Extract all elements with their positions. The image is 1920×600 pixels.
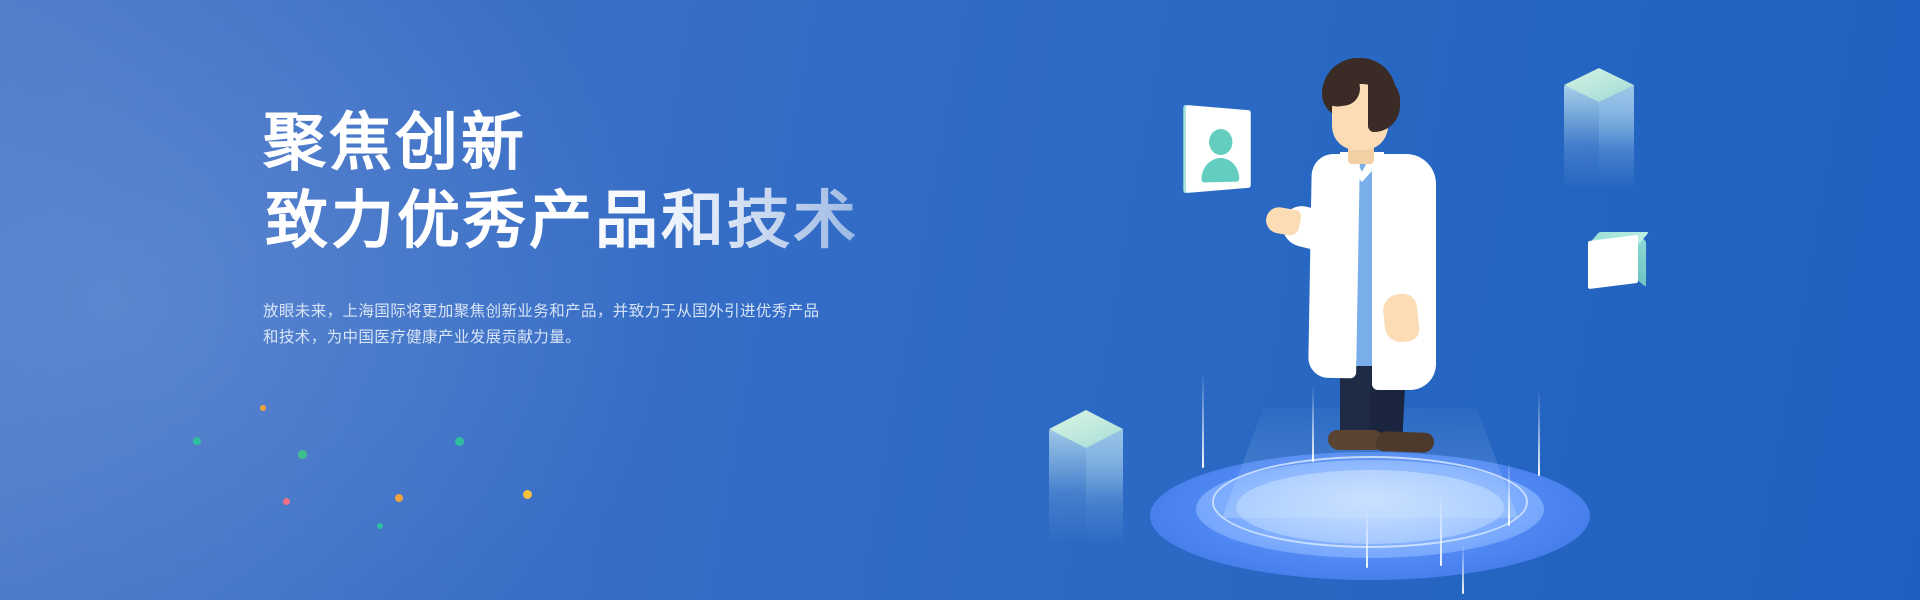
light-streak-4 [1440,492,1442,566]
user-profile-card-icon [1180,105,1275,200]
dot-teal-foot [377,523,383,529]
doctor-illustration [1276,58,1496,448]
dot-pink-low [283,498,290,505]
dot-orange-left [260,405,266,411]
light-streak-1 [1202,372,1204,468]
description-line-2: 和技术，为中国医疗健康产业发展贡献力量。 [263,325,863,351]
decorative-column-right-icon [1564,68,1634,186]
light-streak-7 [1462,542,1464,594]
light-streak-3 [1366,508,1368,568]
light-streak-5 [1508,460,1510,526]
particle-effects [1140,400,1600,590]
hero-banner: 聚焦创新 致力优秀产品和技术 放眼未来，上海国际将更加聚焦创新业务和产品，并致力… [0,0,1920,600]
dot-teal-right [455,437,464,446]
light-streak-6 [1538,390,1540,476]
dot-green-mid [298,450,307,459]
headline-line-1: 聚焦创新 [263,104,883,182]
headline-line-2: 致力优秀产品和技术 [265,182,883,260]
description-line-1: 放眼未来，上海国际将更加聚焦创新业务和产品，并致力于从国外引进优秀产品 [263,299,863,325]
banner-text-block: 聚焦创新 致力优秀产品和技术 放眼未来，上海国际将更加聚焦创新业务和产品，并致力… [263,104,883,351]
banner-description: 放眼未来，上海国际将更加聚焦创新业务和产品，并致力于从国外引进优秀产品 和技术，… [263,299,863,351]
dot-yellow-right [523,490,532,499]
decorative-column-left-icon [1049,410,1123,540]
light-streak-2 [1312,384,1314,462]
decorative-card-right-icon [1588,232,1644,288]
dot-green-left [193,437,201,445]
dot-orange-mid [395,494,403,502]
